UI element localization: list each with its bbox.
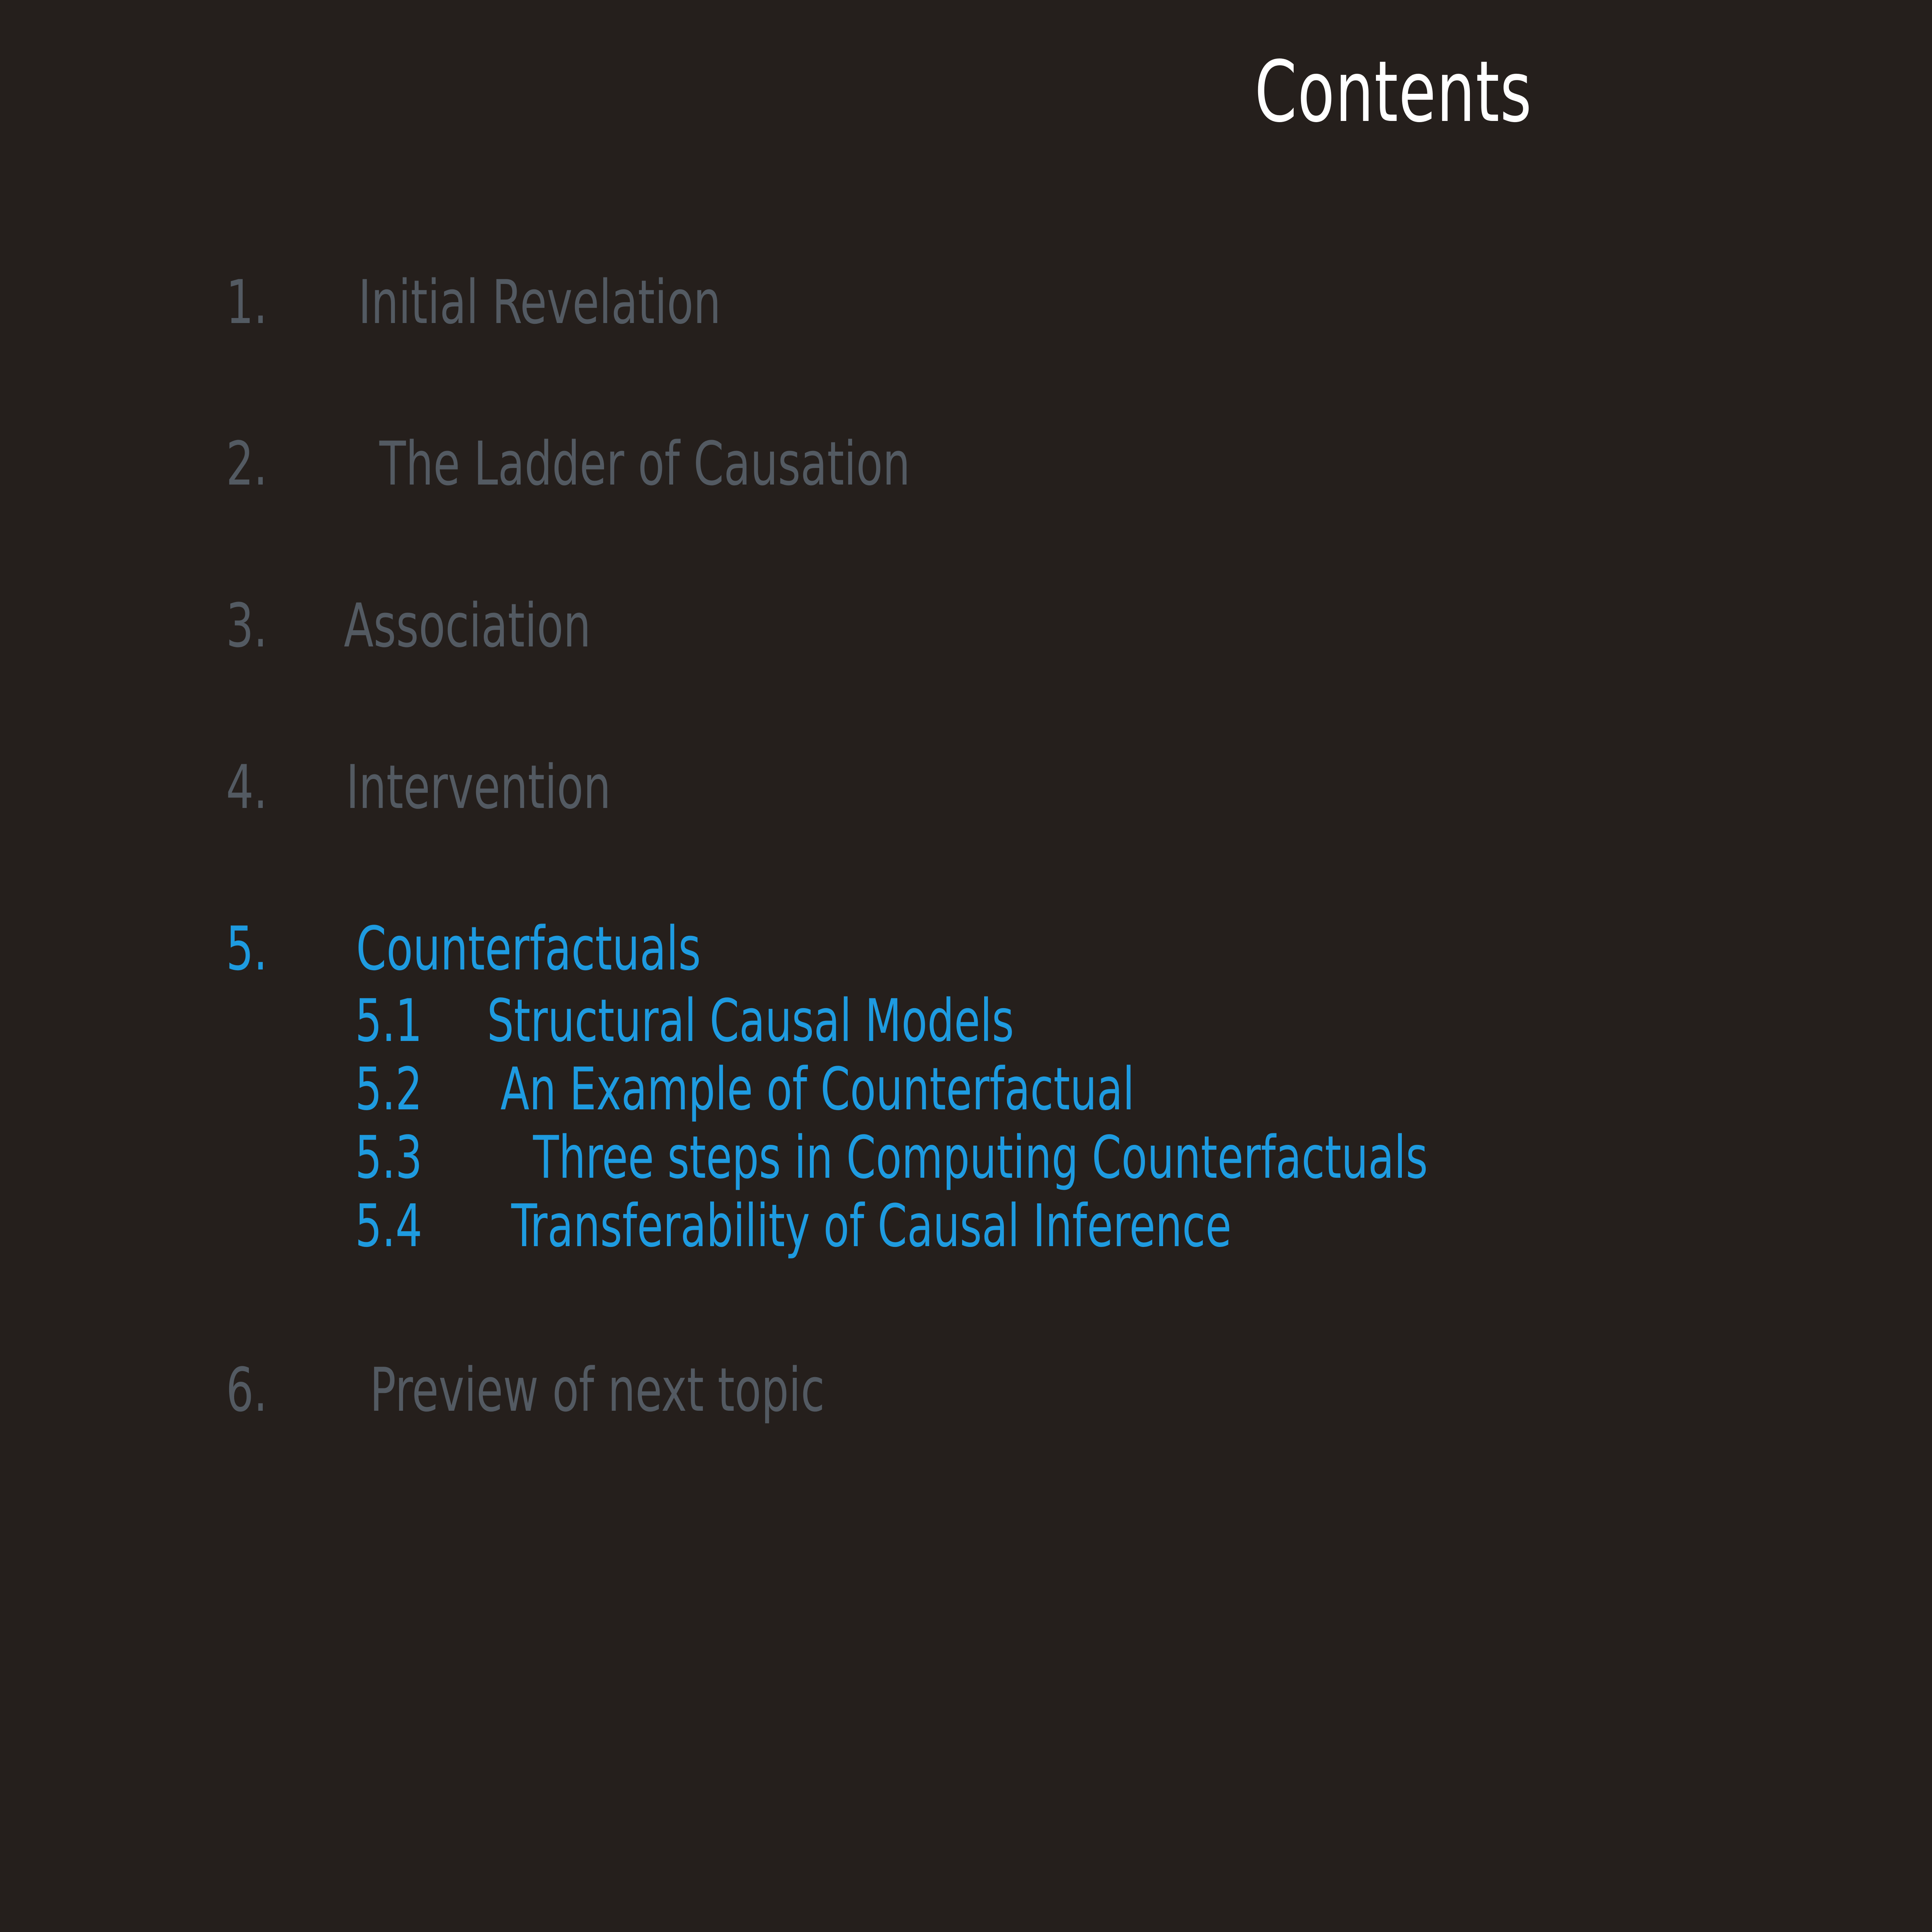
- toc-subsection-5-2[interactable]: 5.2 An Example of Counterfactual: [348, 1058, 1932, 1120]
- toc-section-number: 5.: [226, 917, 303, 981]
- toc-section-label: Initial Revelation: [358, 270, 721, 334]
- title-block: Contents: [0, 50, 1932, 134]
- toc-subsection-number: 5.4: [355, 1195, 414, 1257]
- toc-section-label: Counterfactuals: [356, 917, 701, 981]
- table-of-contents: 1. Initial Revelation 2. The Ladder of C…: [216, 270, 1932, 1520]
- toc-subsection-5-3[interactable]: 5.3 Three steps in Computing Counterfact…: [348, 1126, 1932, 1189]
- toc-section-number: 2.: [226, 432, 303, 496]
- slide-canvas: Contents 1. Initial Revelation 2. The La…: [0, 0, 1932, 1932]
- toc-section-6[interactable]: 6. Preview of next topic: [216, 1358, 1932, 1422]
- toc-subsection-number: 5.2: [355, 1058, 414, 1120]
- toc-subsection-label: Transferability of Causal Inference: [511, 1195, 1231, 1257]
- toc-subsection-label: Three steps in Computing Counterfactuals: [533, 1126, 1428, 1189]
- toc-section-number: 3.: [226, 594, 303, 658]
- toc-section-label: Association: [344, 594, 591, 658]
- toc-subsection-list: 5.1 Structural Causal Models 5.2 An Exam…: [348, 990, 1932, 1257]
- toc-section-number: 4.: [226, 755, 303, 819]
- toc-section-number: 6.: [226, 1358, 303, 1422]
- toc-section-4[interactable]: 4. Intervention: [216, 755, 1932, 819]
- page-title: Contents: [1255, 50, 1532, 134]
- toc-section-2[interactable]: 2. The Ladder of Causation: [216, 432, 1932, 496]
- toc-section-label: Preview of next topic: [370, 1358, 825, 1422]
- toc-section-1[interactable]: 1. Initial Revelation: [216, 270, 1932, 334]
- toc-subsection-label: Structural Causal Models: [487, 990, 1014, 1052]
- toc-section-5[interactable]: 5. Counterfactuals: [216, 917, 1932, 981]
- toc-section-number: 1.: [226, 270, 303, 334]
- toc-section-3[interactable]: 3. Association: [216, 594, 1932, 658]
- toc-subsection-label: An Example of Counterfactual: [500, 1058, 1134, 1120]
- toc-section-label: Intervention: [346, 755, 611, 819]
- toc-subsection-number: 5.3: [355, 1126, 414, 1189]
- toc-section-label: The Ladder of Causation: [379, 432, 910, 496]
- toc-subsection-5-1[interactable]: 5.1 Structural Causal Models: [348, 990, 1932, 1052]
- toc-subsection-number: 5.1: [355, 990, 414, 1052]
- toc-subsection-5-4[interactable]: 5.4 Transferability of Causal Inference: [348, 1195, 1932, 1257]
